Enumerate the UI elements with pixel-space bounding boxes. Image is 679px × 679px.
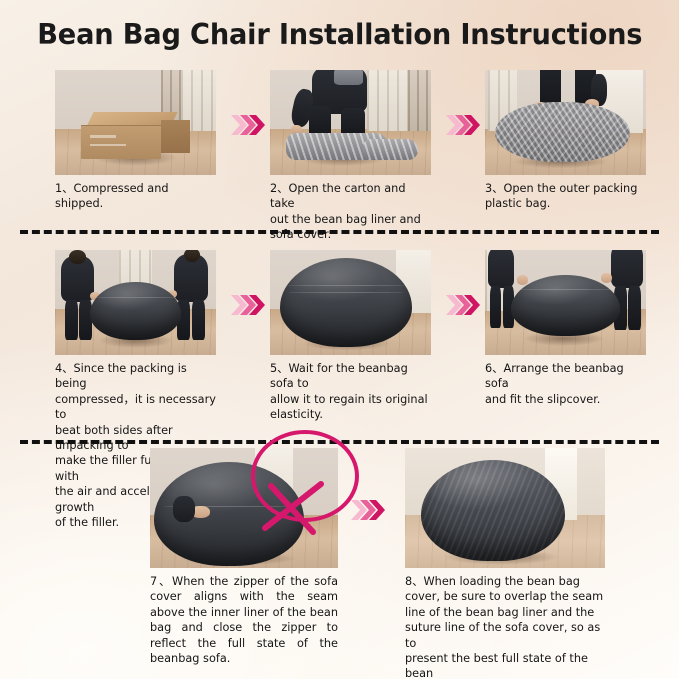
- person-arm: [173, 496, 196, 522]
- step-3: 3、Open the outer packing plastic bag.: [485, 70, 646, 212]
- carton-front: [81, 125, 162, 160]
- beanbag-resting: [280, 258, 412, 346]
- carton-seam: [81, 125, 162, 126]
- step-3-caption: 3、Open the outer packing plastic bag.: [485, 181, 646, 212]
- person-left-head: [69, 250, 85, 264]
- scene-zipper-alignment: [150, 448, 338, 568]
- scene-carton-on-floor: [55, 70, 216, 175]
- beanbag-seam: [96, 297, 175, 298]
- person-right-leg-2: [192, 300, 205, 340]
- divider-row-2: [20, 440, 659, 444]
- outer-plastic-bag: [495, 102, 630, 163]
- step-2-photo: [270, 70, 431, 175]
- person-right-torso: [611, 250, 643, 288]
- flat-vacuum-pack-2: [363, 139, 418, 160]
- carton-barcode: [90, 144, 125, 146]
- person-shirt: [334, 70, 363, 85]
- person-left-leg: [490, 286, 501, 328]
- person-right-leg-2: [628, 286, 641, 330]
- step-5: 5、Wait for the beanbag sofa to allow it …: [270, 250, 431, 423]
- divider-row-1: [20, 230, 659, 234]
- beanbag-with-cover: [511, 275, 620, 336]
- step-8-caption: 8、When loading the bean bag cover, be su…: [405, 574, 605, 679]
- person-left-hand: [517, 275, 528, 284]
- beanbag-finished: [421, 460, 565, 561]
- scene-person-opening-carton: [270, 70, 431, 175]
- person-right-hand: [601, 273, 612, 282]
- step-2: 2、Open the carton and take out the bean …: [270, 70, 431, 243]
- carton-label: [90, 135, 116, 138]
- step-7: 7、When the zipper of the sofa cover alig…: [150, 448, 338, 666]
- arrow-step-4-to-5: [230, 292, 266, 318]
- step-6-photo: [485, 250, 646, 355]
- person-right-head: [184, 250, 200, 262]
- scene-two-people-beating-bag: [55, 250, 216, 355]
- page-title: Bean Bag Chair Installation Instructions: [37, 18, 642, 51]
- step-5-photo: [270, 250, 431, 355]
- step-1-photo: [55, 70, 216, 175]
- scene-finished-beanbag: [405, 448, 605, 568]
- step-6: 6、Arrange the beanbag sofa and fit the s…: [485, 250, 646, 407]
- cover-seam: [517, 289, 613, 290]
- beanbag-seam-mid: [288, 292, 404, 293]
- step-7-photo: [150, 448, 338, 568]
- step-4-photo: [55, 250, 216, 355]
- step-6-caption: 6、Arrange the beanbag sofa and fit the s…: [485, 361, 646, 407]
- curtain-light: [367, 70, 409, 131]
- carton-side: [161, 120, 190, 153]
- beanbag-compressed: [90, 282, 180, 341]
- instruction-poster: Bean Bag Chair Installation Instructions…: [0, 0, 679, 679]
- scene-bag-resting: [270, 250, 431, 355]
- arrow-step-5-to-6: [445, 292, 481, 318]
- person-left-torso: [488, 250, 514, 288]
- title-bar: Bean Bag Chair Installation Instructions: [0, 18, 679, 51]
- arrow-step-7-to-8: [350, 497, 386, 523]
- person-left-leg: [65, 300, 78, 340]
- step-1: 1、Compressed and shipped.: [55, 70, 216, 212]
- scene-plastic-bag-opening: [485, 70, 646, 175]
- scene-fitting-slipcover: [485, 250, 646, 355]
- step-5-caption: 5、Wait for the beanbag sofa to allow it …: [270, 361, 431, 423]
- step-7-caption: 7、When the zipper of the sofa cover alig…: [150, 574, 338, 666]
- beanbag-seam-top: [288, 285, 404, 286]
- arrow-step-1-to-2: [230, 112, 266, 138]
- step-8-photo: [405, 448, 605, 568]
- curtain-dark: [408, 70, 431, 131]
- arrow-step-2-to-3: [445, 112, 481, 138]
- step-8: 8、When loading the bean bag cover, be su…: [405, 448, 605, 679]
- step-3-photo: [485, 70, 646, 175]
- step-1-caption: 1、Compressed and shipped.: [55, 181, 216, 212]
